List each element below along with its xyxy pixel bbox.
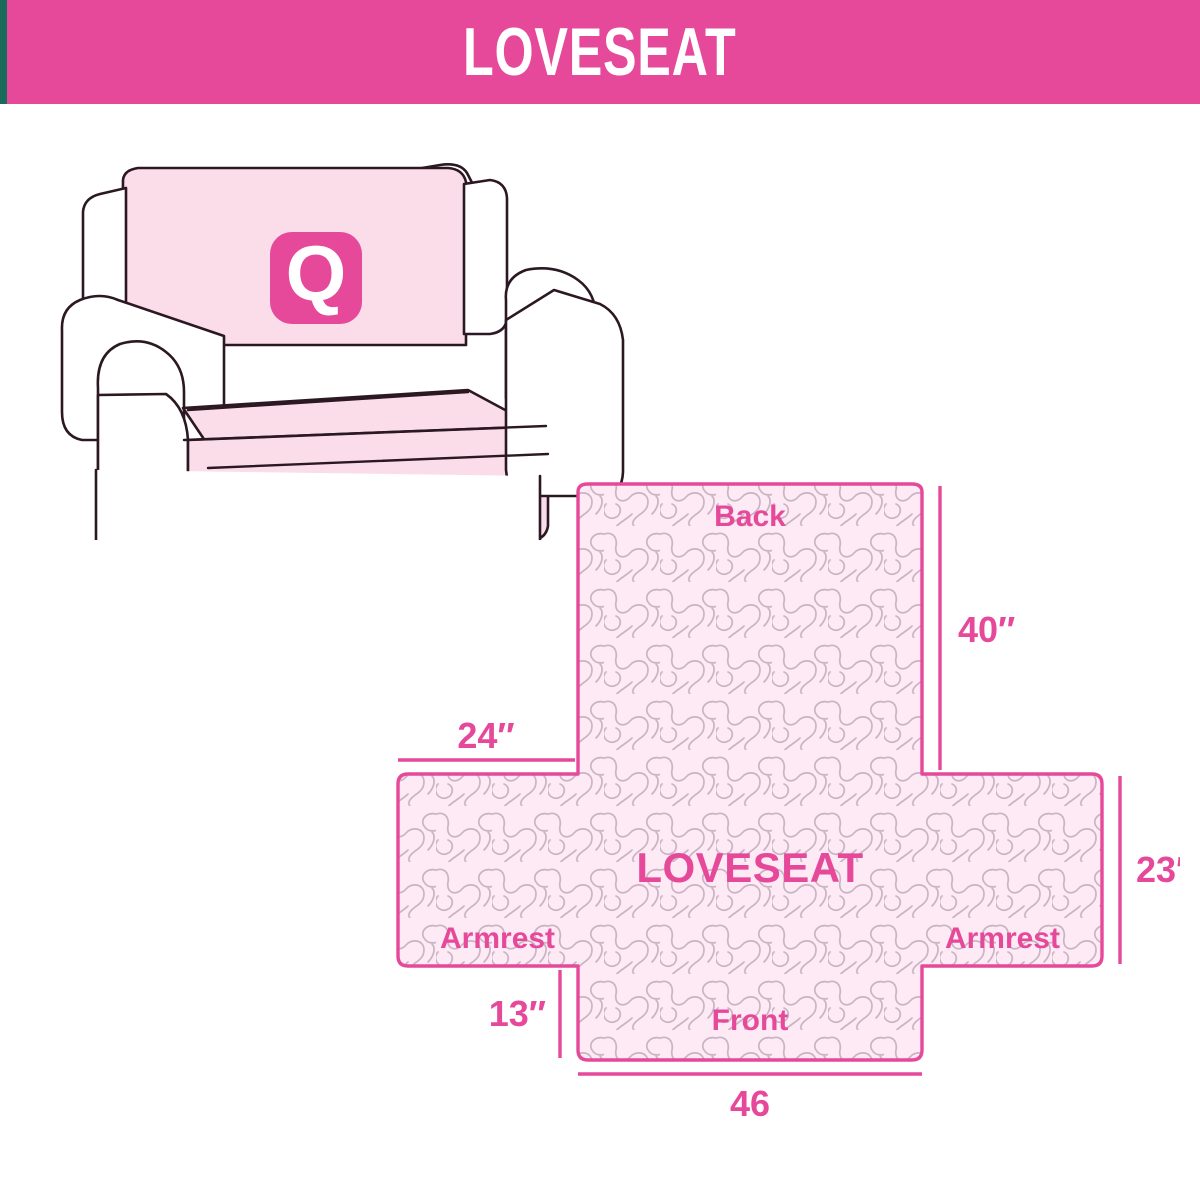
- dimension-back-height: 40″: [940, 486, 1015, 770]
- cover-outline: [398, 484, 1102, 1060]
- dimension-armrest-height: 23″: [1120, 776, 1180, 964]
- dimension-front-width: 46: [578, 1074, 922, 1124]
- brand-logo-letter: Q: [286, 229, 347, 317]
- sofa-armrest-right-front: [506, 290, 623, 496]
- panel-label-center: LOVESEAT: [636, 844, 863, 891]
- dimension-front-height: 13″: [489, 970, 560, 1058]
- dimension-value-40: 40″: [958, 609, 1015, 650]
- panel-label-armrest-right: Armrest: [945, 922, 1060, 955]
- cover-cross-shape: [398, 484, 1102, 1060]
- dimension-value-23: 23″: [1136, 849, 1180, 890]
- dimension-value-24: 24″: [457, 715, 514, 756]
- header-banner: LOVESEAT: [0, 0, 1200, 104]
- brand-logo: Q: [270, 229, 362, 324]
- dimension-armrest-width: 24″: [398, 715, 575, 760]
- panel-label-front: Front: [712, 1004, 789, 1037]
- cover-dimension-diagram: Back LOVESEAT Armrest Armrest Front 40″ …: [380, 470, 1180, 1150]
- left-accent-stripe: [0, 0, 7, 104]
- sofa-back-right-edge: [464, 180, 507, 334]
- dimension-value-13: 13″: [489, 993, 546, 1034]
- panel-label-back: Back: [714, 500, 786, 533]
- dimension-value-46: 46: [730, 1083, 770, 1124]
- product-dimension-sheet: LOVESEAT: [0, 0, 1200, 1200]
- page-title: LOVESEAT: [463, 18, 736, 86]
- panel-label-armrest-left: Armrest: [440, 922, 555, 955]
